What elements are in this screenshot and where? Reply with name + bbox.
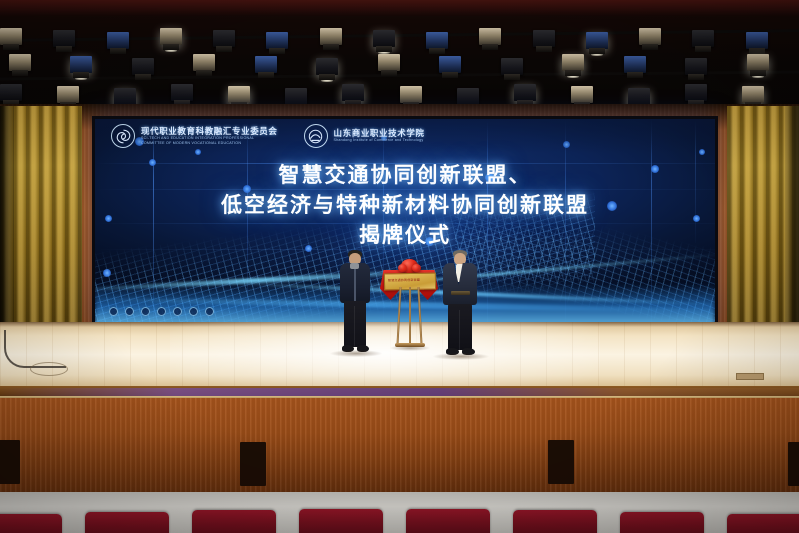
red-flower-petal-r xyxy=(412,264,421,272)
logo-committee-en2: COMMITTEE OF MODERN VOCATIONAL EDUCATION xyxy=(141,142,278,146)
stage-light-fixture xyxy=(320,28,342,45)
ceremony-stage-photo: 现代职业教育科教融汇专业委员会 SCI-TECH AND EDUCATION I… xyxy=(0,0,799,533)
stage-light-fixture xyxy=(316,58,338,75)
ceiling-lighting-rig xyxy=(0,0,799,112)
person-right xyxy=(437,250,483,358)
stage-light-fixture xyxy=(266,32,288,49)
easel-leg-right xyxy=(417,287,422,345)
title-line-1: 智慧交通协同创新联盟、 xyxy=(95,161,715,191)
title-line-3: 揭牌仪式 xyxy=(95,221,715,251)
stage-light-fixture xyxy=(9,54,31,71)
stage-light-fixture xyxy=(373,30,395,47)
stage-light-fixture xyxy=(193,54,215,71)
logo-institute-cn: 山东商业职业技术学院 xyxy=(334,129,425,138)
stage-light-fixture xyxy=(514,84,536,101)
stage-light-fixture xyxy=(378,54,400,71)
globe-icon xyxy=(125,307,134,316)
chip-icon xyxy=(109,307,118,316)
stage-light-fixture xyxy=(639,28,661,45)
stage-light-fixture xyxy=(533,30,555,47)
stage-vent-3 xyxy=(548,440,574,484)
data-icon xyxy=(205,307,214,316)
stage-light-fixture xyxy=(742,86,764,103)
stage-light-fixture xyxy=(114,88,136,105)
stage-light-fixture xyxy=(562,54,584,71)
link-icon xyxy=(189,307,198,316)
stage-light-fixture xyxy=(400,86,422,103)
stage-light-fixture xyxy=(501,58,523,75)
stage-light-fixture xyxy=(685,58,707,75)
logo-institute: 山东商业职业技术学院 Shandong Institute of Commerc… xyxy=(304,124,425,148)
screen-logo-bar: 现代职业教育科教融汇专业委员会 SCI-TECH AND EDUCATION I… xyxy=(95,119,715,153)
rocket-icon xyxy=(141,307,150,316)
stage-front-panel xyxy=(0,398,799,496)
stage-vent-1 xyxy=(0,440,20,484)
auditorium-seat xyxy=(406,509,490,533)
floor-cable-coil xyxy=(30,362,68,376)
red-flower-petal-l xyxy=(398,264,407,272)
stage-light-fixture xyxy=(132,58,154,75)
logo-committee: 现代职业教育科教融汇专业委员会 SCI-TECH AND EDUCATION I… xyxy=(111,124,278,148)
stage-light-fixture xyxy=(285,88,307,105)
logo-committee-en1: SCI-TECH AND EDUCATION INTEGRATION PROFE… xyxy=(141,137,278,141)
stage-light-fixture xyxy=(57,86,79,103)
screen-icon-strip xyxy=(109,307,214,316)
stage-light-fixture xyxy=(692,30,714,47)
auditorium-seat xyxy=(85,512,169,533)
stage-light-fixture xyxy=(479,28,501,45)
auditorium-seat xyxy=(299,509,383,533)
stage-light-fixture xyxy=(0,84,22,101)
ceiling-red-band xyxy=(0,0,799,16)
gear-icon xyxy=(157,307,166,316)
title-line-2: 低空经济与特种新材料协同创新联盟 xyxy=(95,191,715,221)
stage-light-fixture xyxy=(0,28,22,45)
stage-light-fixture xyxy=(342,84,364,101)
person-left xyxy=(334,250,376,356)
auditorium-seat xyxy=(727,514,799,533)
stage-light-fixture xyxy=(571,86,593,103)
stage-light-fixture xyxy=(586,32,608,49)
auditorium-seat xyxy=(0,514,62,533)
stage-light-fixture xyxy=(213,30,235,47)
screen-title-block: 智慧交通协同创新联盟、 低空经济与特种新材料协同创新联盟 揭牌仪式 xyxy=(95,161,715,250)
stage-light-fixture xyxy=(426,32,448,49)
stage-light-fixture xyxy=(628,88,650,105)
stage-light-fixture xyxy=(107,32,129,49)
stage-light-fixture xyxy=(228,86,250,103)
auditorium-seat xyxy=(620,512,704,533)
auditorium-seat xyxy=(192,510,276,533)
logo-committee-cn: 现代职业教育科教融汇专业委员会 xyxy=(141,127,278,136)
auditorium-seat xyxy=(513,510,597,533)
curtain-shadow-right xyxy=(785,106,799,344)
stage-light-fixture xyxy=(624,56,646,73)
stage-light-fixture xyxy=(171,84,193,101)
stage-light-fixture xyxy=(53,30,75,47)
easel-leg-mid xyxy=(409,287,411,345)
stage-light-fixture xyxy=(457,88,479,105)
curtain-shadow-left xyxy=(0,106,14,344)
easel-leg-left xyxy=(396,287,401,345)
easel-shadow xyxy=(390,345,430,351)
floor-hatch xyxy=(736,373,764,380)
cloud-icon xyxy=(173,307,182,316)
plaque-text: 智慧交通协同创新联盟 xyxy=(388,278,432,283)
stage-vent-4 xyxy=(788,442,799,486)
plaque-assembly: 智慧交通协同创新联盟 xyxy=(378,256,442,360)
truss-bar-2 xyxy=(0,70,799,80)
spiral-emblem-icon xyxy=(111,124,135,148)
person-right-leg-gap xyxy=(459,310,460,350)
stage-light-fixture xyxy=(70,56,92,73)
stage-light-fixture xyxy=(747,54,769,71)
stage-light-fixture xyxy=(439,56,461,73)
person-left-leg-gap xyxy=(354,306,355,346)
person-left-shadow xyxy=(330,350,382,357)
wave-emblem-icon xyxy=(304,124,328,148)
logo-institute-en1: Shandong Institute of Commerce and Techn… xyxy=(334,139,425,143)
stage-light-fixture xyxy=(160,28,182,45)
person-right-belt xyxy=(451,291,470,295)
person-left-collar xyxy=(350,263,359,269)
person-left-zipper xyxy=(354,265,356,301)
stage-light-fixture xyxy=(685,84,707,101)
stage-light-fixture xyxy=(255,56,277,73)
stage-light-fixture xyxy=(746,32,768,49)
stage-vent-2 xyxy=(240,442,266,486)
